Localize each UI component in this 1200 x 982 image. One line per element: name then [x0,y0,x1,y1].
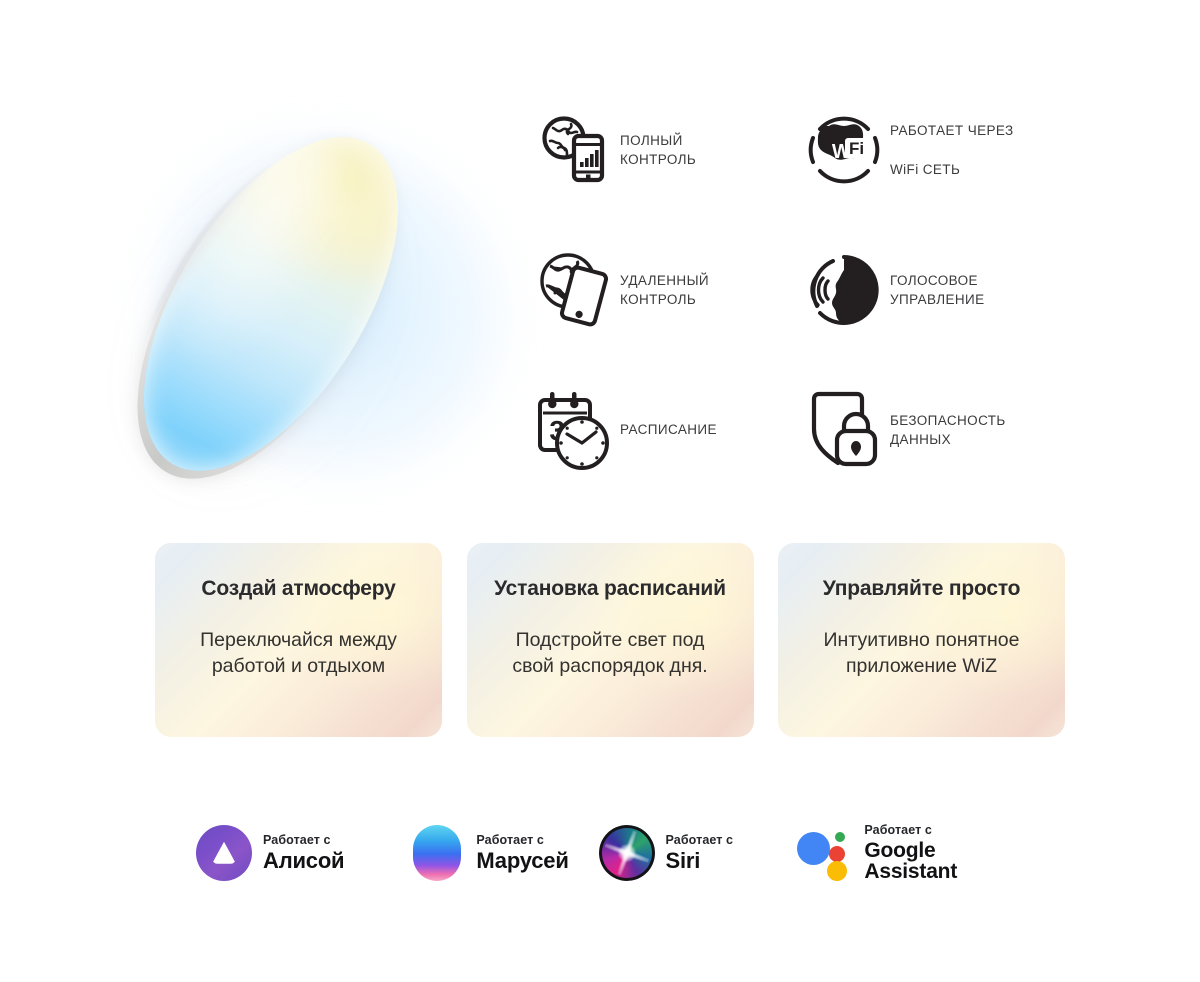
card-body: Интуитивно понятное приложение WiZ [798,627,1045,679]
feature-label: РАСПИСАНИЕ [620,420,717,439]
card-body: Переключайся между работой и отдыхом [175,627,422,679]
feature-schedule: 31 РАСПИСАНИЕ [528,380,798,480]
feature-label: ПОЛНЫЙ КОНТРОЛЬ [620,131,696,169]
svg-text:Fi: Fi [849,139,864,158]
feature-label: БЕЗОПАСНОСТЬ ДАННЫХ [890,411,1006,449]
assistant-badge-siri: Работает с Siri [599,825,798,881]
card-title: Создай атмосферу [175,577,422,601]
siri-logo-icon [599,825,655,881]
assistant-name: Алисой [263,850,344,872]
voice-face-waves-icon [798,240,890,340]
google-assistant-logo-icon [797,825,853,881]
benefit-card-schedules: Установка расписаний Подстройте свет под… [467,543,754,737]
benefit-cards: Создай атмосферу Переключайся между рабо… [155,543,1065,737]
feature-voice-control: ГОЛОСОВОЕ УПРАВЛЕНИЕ [798,240,1068,340]
works-with-label: Работает с [864,824,1026,837]
works-with-label: Работает с [263,834,344,847]
ga-blue-dot [797,832,830,865]
feature-data-security: БЕЗОПАСНОСТЬ ДАННЫХ [798,380,1068,480]
assistant-badge-marusya: Работает с Марусей [409,825,598,881]
ga-green-dot [835,832,845,842]
feature-label: ГОЛОСОВОЕ УПРАВЛЕНИЕ [890,271,985,309]
feature-label: РАБОТАЕТ ЧЕРЕЗ WiFi СЕТЬ [890,102,1014,198]
card-title: Управляйте просто [798,577,1045,601]
card-body: Подстройте свет под свой распорядок дня. [487,627,734,679]
feature-row-2: УДАЛЕННЫЙ КОНТРОЛЬ ГОЛОСОВОЕ УПРАВЛЕНИЕ [528,220,1088,360]
benefit-card-atmosphere: Создай атмосферу Переключайся между рабо… [155,543,442,737]
feature-label-line1: РАБОТАЕТ ЧЕРЕЗ [890,121,1014,140]
calendar-clock-icon: 31 [528,380,620,480]
feature-wifi-network: Wi Fi РАБОТАЕТ ЧЕРЕЗ WiFi СЕТЬ [798,100,1068,200]
globe-smartphone-icon [528,100,620,200]
ga-yellow-dot [827,861,847,881]
shield-lock-icon [798,380,890,480]
product-image [130,80,530,520]
card-title: Установка расписаний [487,577,734,601]
wifi-badge-icon: Wi Fi [798,100,890,200]
assistant-badge-google: Работает с Google Assistant [797,824,1026,882]
ga-red-dot [829,846,845,862]
assistant-badge-alice: Работает с Алисой [196,825,409,881]
works-with-label: Работает с [666,834,734,847]
marusya-logo-icon [409,825,465,881]
alice-logo-icon [196,825,252,881]
feature-remote-control: УДАЛЕННЫЙ КОНТРОЛЬ [528,240,798,340]
feature-grid: ПОЛНЫЙ КОНТРОЛЬ Wi Fi РАБОТАЕТ ЧЕРЕЗ WiF… [528,80,1088,500]
feature-row-3: 31 РАСПИСАНИЕ [528,360,1088,500]
feature-row-1: ПОЛНЫЙ КОНТРОЛЬ Wi Fi РАБОТАЕТ ЧЕРЕЗ WiF… [528,80,1088,220]
assistant-name: Siri [666,850,734,872]
assistant-name: Google Assistant [864,840,1026,882]
feature-label-line2: WiFi СЕТЬ [890,160,1014,179]
assistant-badges: Работает с Алисой Работает с Марусей Раб… [196,824,1026,882]
benefit-card-easy-control: Управляйте просто Интуитивно понятное пр… [778,543,1065,737]
feature-label: УДАЛЕННЫЙ КОНТРОЛЬ [620,271,709,309]
assistant-name: Марусей [476,850,568,872]
works-with-label: Работает с [476,834,568,847]
globe-tablet-icon [528,240,620,340]
feature-full-control: ПОЛНЫЙ КОНТРОЛЬ [528,100,798,200]
